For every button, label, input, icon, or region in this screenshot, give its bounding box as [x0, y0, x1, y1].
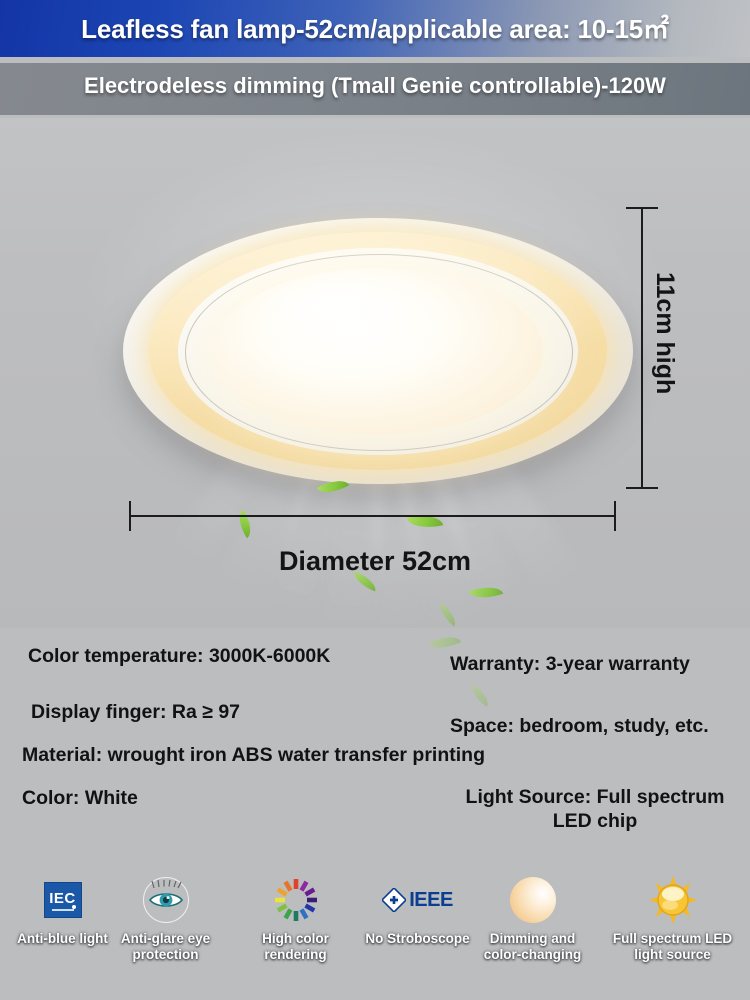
- spec-color-temperature: Color temperature: 3000K-6000K: [28, 644, 330, 668]
- feature-dimming-color-changing: Dimming and color-changing: [470, 872, 595, 963]
- spec-warranty: Warranty: 3-year warranty: [450, 652, 690, 676]
- eyelash-icon: [149, 880, 183, 890]
- diameter-dimension-tick-right: [614, 501, 616, 531]
- ceiling-fan-lamp: [123, 218, 633, 508]
- title-banner-text: Leafless fan lamp-52cm/applicable area: …: [0, 9, 750, 46]
- product-detail-page: Leafless fan lamp-52cm/applicable area: …: [0, 0, 750, 1000]
- feature-label: Anti-glare eye protection: [103, 931, 228, 963]
- height-dimension-line: [641, 208, 643, 489]
- diameter-dimension-tick-left: [129, 501, 131, 531]
- ieee-logo-icon: IEEE: [355, 872, 480, 928]
- feature-label: Full spectrum LED light source: [610, 931, 735, 963]
- spec-material: Material: wrought iron ABS water transfe…: [22, 743, 485, 767]
- feature-label: No Stroboscope: [355, 931, 480, 947]
- ieee-diamond-icon: [382, 888, 406, 912]
- sun-icon-glyph: [648, 875, 698, 925]
- gradient-sphere-icon: [470, 872, 595, 928]
- feature-high-color-rendering: High color rendering: [233, 872, 358, 963]
- floating-leaf: [467, 684, 493, 707]
- eye-icon-glyph: [148, 889, 184, 911]
- height-dimension-label: 11cm high: [650, 272, 679, 394]
- feature-badges-row: IEC Anti-blue light: [0, 872, 750, 1000]
- ieee-icon-text: IEEE: [409, 889, 453, 912]
- height-dimension-tick-top: [626, 207, 658, 209]
- sun-icon: [610, 872, 735, 928]
- lamp-highlight: [263, 284, 413, 342]
- diameter-dimension-label: Diameter 52cm: [0, 546, 750, 577]
- feature-full-spectrum-led: Full spectrum LED light source: [610, 872, 735, 963]
- color-wheel-glyph: [271, 875, 321, 925]
- iec-icon-line: [52, 909, 74, 911]
- subtitle-banner: Electrodeless dimming (Tmall Genie contr…: [0, 63, 750, 115]
- spec-display-finger: Display finger: Ra ≥ 97: [31, 700, 240, 724]
- spec-space: Space: bedroom, study, etc.: [450, 714, 709, 738]
- feature-no-stroboscope: IEEE No Stroboscope: [355, 872, 480, 947]
- height-dimension-tick-bottom: [626, 487, 658, 489]
- iec-icon-text: IEC: [49, 890, 76, 907]
- eye-icon: [103, 872, 228, 928]
- color-wheel-icon: [233, 872, 358, 928]
- subtitle-banner-text: Electrodeless dimming (Tmall Genie contr…: [0, 73, 750, 99]
- diameter-dimension-line: [130, 515, 616, 517]
- feature-label: High color rendering: [233, 931, 358, 963]
- spec-color: Color: White: [22, 786, 138, 810]
- title-banner: Leafless fan lamp-52cm/applicable area: …: [0, 0, 750, 57]
- iec-icon-dot: [72, 905, 76, 909]
- spec-light-source: Light Source: Full spectrum LED chip: [450, 785, 740, 834]
- feature-anti-glare: Anti-glare eye protection: [103, 872, 228, 963]
- feature-label: Dimming and color-changing: [470, 931, 595, 963]
